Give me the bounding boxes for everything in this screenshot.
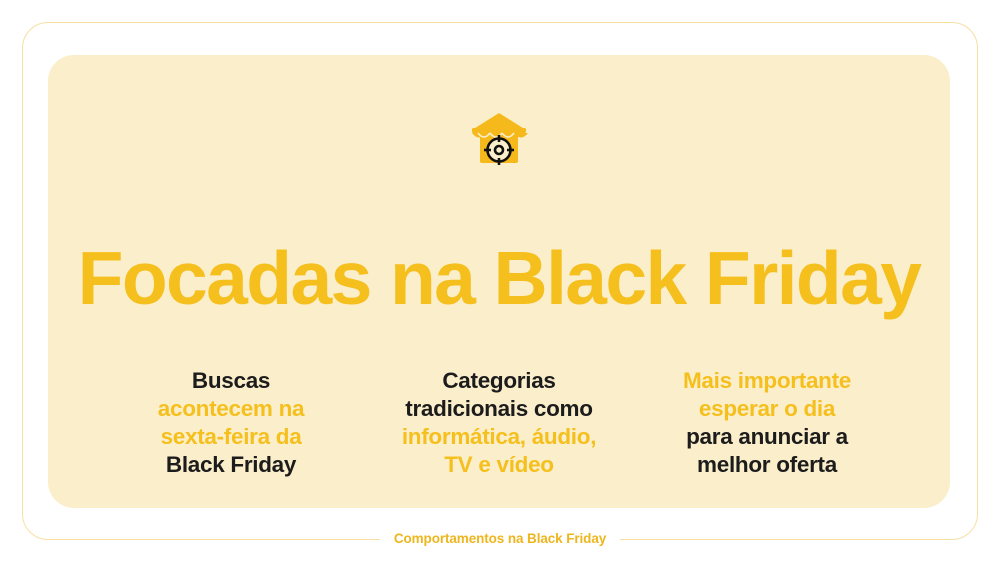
stats-columns: Buscas acontecem na sexta-feira da Black… xyxy=(108,367,890,479)
page-title: Focadas na Black Friday xyxy=(48,237,950,319)
column-categorias-line-3: informática, áudio, xyxy=(376,423,622,451)
footer-caption: Comportamentos na Black Friday xyxy=(0,529,1000,549)
footer-caption-label: Comportamentos na Black Friday xyxy=(380,529,620,549)
column-categorias-line-1: Categorias xyxy=(376,367,622,395)
column-buscas-line-3: sexta-feira da xyxy=(108,423,354,451)
column-mais-importante: Mais importante esperar o dia para anunc… xyxy=(644,367,890,479)
column-mais-importante-line-3: para anunciar a xyxy=(644,423,890,451)
column-mais-importante-line-2: esperar o dia xyxy=(644,395,890,423)
column-buscas-line-1: Buscas xyxy=(108,367,354,395)
shop-target-icon xyxy=(468,111,530,167)
column-buscas-line-4: Black Friday xyxy=(108,451,354,479)
column-categorias-line-4: TV e vídeo xyxy=(376,451,622,479)
icon-container xyxy=(48,111,950,167)
content-card: Focadas na Black Friday Buscas acontecem… xyxy=(48,55,950,508)
column-buscas: Buscas acontecem na sexta-feira da Black… xyxy=(108,367,354,479)
column-buscas-line-2: acontecem na xyxy=(108,395,354,423)
column-mais-importante-line-1: Mais importante xyxy=(644,367,890,395)
column-mais-importante-line-4: melhor oferta xyxy=(644,451,890,479)
column-categorias: Categorias tradicionais como informática… xyxy=(376,367,622,479)
slide-root: Focadas na Black Friday Buscas acontecem… xyxy=(0,0,1000,562)
column-categorias-line-2: tradicionais como xyxy=(376,395,622,423)
